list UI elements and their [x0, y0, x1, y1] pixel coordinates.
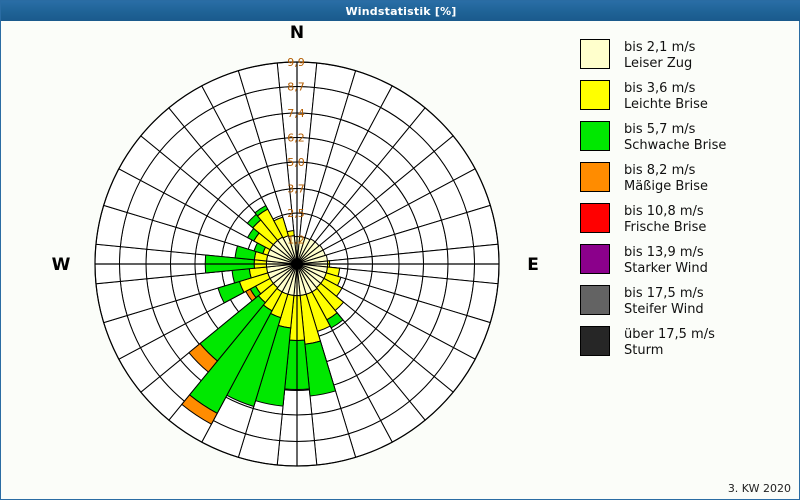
- radial-tick-label: 2,5: [287, 207, 305, 220]
- legend-item: bis 2,1 m/sLeiser Zug: [580, 39, 795, 71]
- window-title: Windstatistik [%]: [345, 5, 456, 18]
- legend-label: bis 13,9 m/sStarker Wind: [624, 244, 708, 276]
- legend: bis 2,1 m/sLeiser Zugbis 3,6 m/sLeichte …: [580, 39, 795, 367]
- legend-beaufort-name: Schwache Brise: [624, 138, 726, 154]
- legend-speed-range: bis 2,1 m/s: [624, 40, 695, 56]
- legend-label: bis 5,7 m/sSchwache Brise: [624, 121, 726, 153]
- legend-swatch: [580, 326, 610, 356]
- legend-swatch: [580, 203, 610, 233]
- legend-label: bis 10,8 m/sFrische Brise: [624, 203, 706, 235]
- legend-beaufort-name: Sturm: [624, 343, 715, 359]
- legend-label: über 17,5 m/sSturm: [624, 326, 715, 358]
- wind-statistics-window: Windstatistik [%] 1,22,53,75,06,27,48,79…: [0, 0, 800, 500]
- legend-label: bis 3,6 m/sLeichte Brise: [624, 80, 708, 112]
- compass-label-east: E: [527, 255, 539, 275]
- legend-swatch: [580, 285, 610, 315]
- legend-label: bis 17,5 m/sSteifer Wind: [624, 285, 704, 317]
- window-titlebar: Windstatistik [%]: [1, 1, 800, 21]
- legend-label: bis 8,2 m/sMäßige Brise: [624, 162, 708, 194]
- footer-period: 3. KW 2020: [728, 482, 791, 495]
- legend-beaufort-name: Starker Wind: [624, 261, 708, 277]
- legend-swatch: [580, 39, 610, 69]
- legend-beaufort-name: Mäßige Brise: [624, 179, 708, 195]
- radial-tick-label: 5,0: [287, 156, 305, 169]
- radial-tick-label: 1,2: [287, 234, 305, 247]
- radial-tick-label: 9,9: [287, 56, 305, 69]
- compass-label-west: W: [52, 255, 71, 275]
- legend-speed-range: bis 3,6 m/s: [624, 81, 708, 97]
- legend-item: über 17,5 m/sSturm: [580, 326, 795, 358]
- legend-beaufort-name: Leiser Zug: [624, 56, 695, 72]
- legend-item: bis 8,2 m/sMäßige Brise: [580, 162, 795, 194]
- legend-swatch: [580, 162, 610, 192]
- compass-label-north: N: [290, 23, 304, 43]
- legend-speed-range: bis 10,8 m/s: [624, 204, 706, 220]
- wind-rose-svg: 1,22,53,75,06,27,48,79,9 NSWE: [2, 21, 562, 491]
- legend-item: bis 5,7 m/sSchwache Brise: [580, 121, 795, 153]
- legend-item: bis 10,8 m/sFrische Brise: [580, 203, 795, 235]
- legend-item: bis 13,9 m/sStarker Wind: [580, 244, 795, 276]
- radial-tick-label: 6,2: [287, 131, 305, 144]
- legend-swatch: [580, 80, 610, 110]
- window-content: 1,22,53,75,06,27,48,79,9 NSWE bis 2,1 m/…: [2, 21, 799, 499]
- legend-beaufort-name: Frische Brise: [624, 220, 706, 236]
- radial-tick-label: 7,4: [287, 107, 305, 120]
- legend-swatch: [580, 121, 610, 151]
- legend-speed-range: bis 5,7 m/s: [624, 122, 726, 138]
- legend-speed-range: bis 17,5 m/s: [624, 286, 704, 302]
- legend-speed-range: über 17,5 m/s: [624, 327, 715, 343]
- legend-speed-range: bis 8,2 m/s: [624, 163, 708, 179]
- legend-label: bis 2,1 m/sLeiser Zug: [624, 39, 695, 71]
- legend-item: bis 3,6 m/sLeichte Brise: [580, 80, 795, 112]
- legend-swatch: [580, 244, 610, 274]
- legend-speed-range: bis 13,9 m/s: [624, 245, 708, 261]
- legend-item: bis 17,5 m/sSteifer Wind: [580, 285, 795, 317]
- legend-beaufort-name: Steifer Wind: [624, 302, 704, 318]
- radial-tick-label: 3,7: [287, 183, 305, 196]
- wind-rose-chart: 1,22,53,75,06,27,48,79,9 NSWE: [2, 21, 562, 491]
- radial-tick-label: 8,7: [287, 80, 305, 93]
- legend-beaufort-name: Leichte Brise: [624, 97, 708, 113]
